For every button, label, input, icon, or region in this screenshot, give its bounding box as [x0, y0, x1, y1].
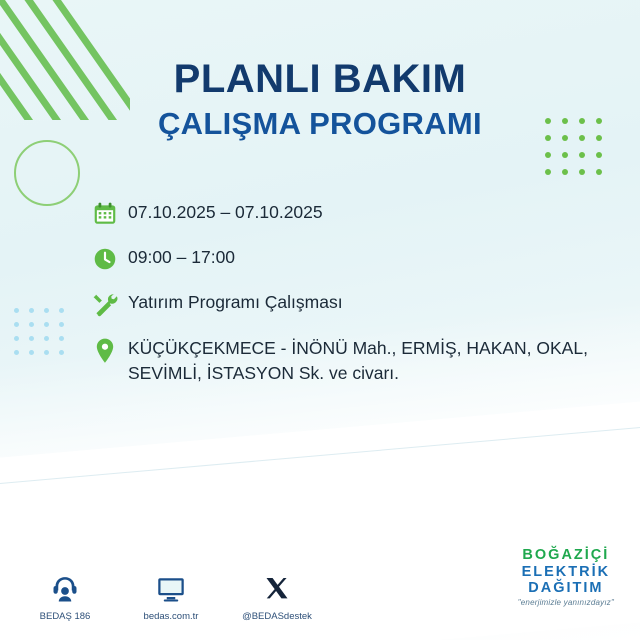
- info-row-worktype: Yatırım Programı Çalışması: [86, 290, 606, 318]
- monitor-icon: [132, 572, 210, 606]
- footer-contact-items: BEDAŞ 186 bedas.com.tr: [26, 572, 316, 622]
- info-row-date: 07.10.2025 – 07.10.2025: [86, 200, 606, 227]
- poster-title-block: PLANLI BAKIM ÇALIŞMA PROGRAMI: [0, 58, 640, 142]
- brand-line-2: ELEKTRİK: [518, 564, 614, 580]
- brand-line-3: DAĞITIM: [518, 580, 614, 596]
- info-row-time: 09:00 – 17:00: [86, 245, 606, 272]
- footer-label-website: bedas.com.tr: [132, 611, 210, 622]
- brand-logo: BOĞAZİÇİ ELEKTRİK DAĞITIM "enerjimizle y…: [518, 547, 614, 608]
- brand-slogan: "enerjimizle yanınızdayız": [518, 599, 614, 608]
- wave-line-decoration: [0, 420, 640, 491]
- footer-item-social[interactable]: @BEDASdestek: [238, 572, 316, 622]
- page-title: PLANLI BAKIM: [0, 58, 640, 100]
- footer-label-phone: BEDAŞ 186: [26, 611, 104, 622]
- headset-icon: [26, 572, 104, 606]
- page-subtitle: ÇALIŞMA PROGRAMI: [0, 106, 640, 142]
- info-text-time: 09:00 – 17:00: [124, 245, 235, 270]
- info-text-location: KÜÇÜKÇEKMECE - İNÖNÜ Mah., ERMİŞ, HAKAN,…: [124, 336, 598, 387]
- info-text-date: 07.10.2025 – 07.10.2025: [124, 200, 323, 225]
- x-logo-icon: [238, 572, 316, 606]
- tools-icon: [86, 290, 124, 318]
- info-text-worktype: Yatırım Programı Çalışması: [124, 290, 343, 315]
- footer-label-social: @BEDASdestek: [238, 611, 316, 622]
- footer-item-phone[interactable]: BEDAŞ 186: [26, 572, 104, 622]
- calendar-icon: [86, 200, 124, 227]
- info-row-location: KÜÇÜKÇEKMECE - İNÖNÜ Mah., ERMİŞ, HAKAN,…: [86, 336, 606, 387]
- poster-canvas: PLANLI BAKIM ÇALIŞMA PROGRAMI: [0, 0, 640, 640]
- circle-outline-decoration: [14, 140, 80, 206]
- dot-grid-left-decoration: [14, 308, 65, 355]
- brand-line-1: BOĞAZİÇİ: [518, 547, 614, 563]
- info-list: 07.10.2025 – 07.10.2025 09:00 – 17:00 Ya…: [86, 200, 606, 405]
- footer-item-website[interactable]: bedas.com.tr: [132, 572, 210, 622]
- clock-icon: [86, 245, 124, 272]
- location-pin-icon: [86, 336, 124, 365]
